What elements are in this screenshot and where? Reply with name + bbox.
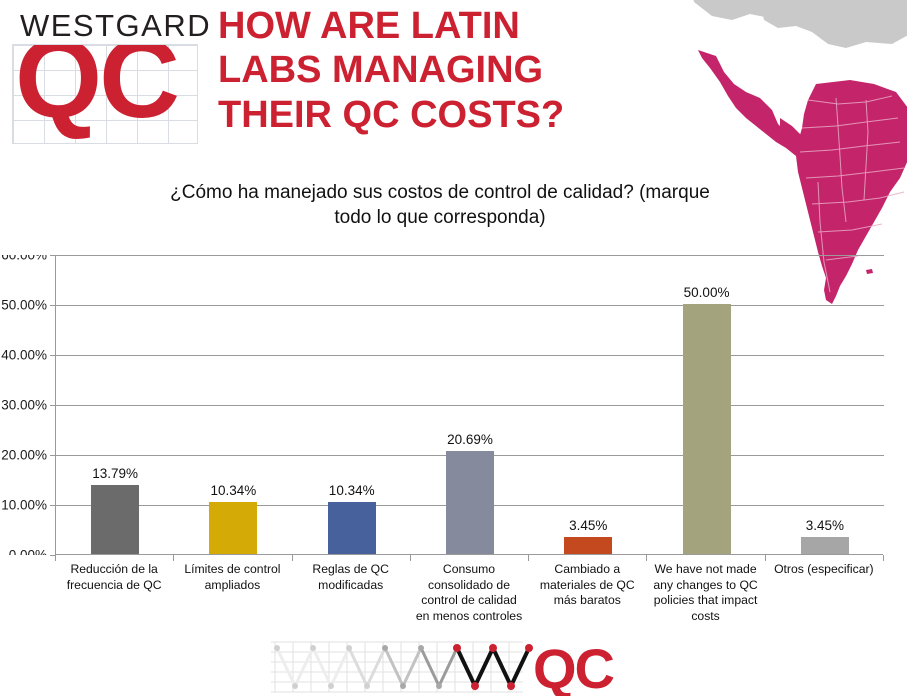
westgard-qc-footer-logo: QC (271, 638, 671, 696)
survey-bar-chart: ¿Cómo ha manejado sus costos de control … (0, 168, 907, 638)
y-axis-tick (50, 255, 56, 256)
x-axis-tick (883, 555, 884, 561)
headline-line-2: LABS MANAGING (218, 48, 658, 92)
bar-value-label: 3.45% (806, 518, 844, 533)
x-axis-category-line: Reducción de la (70, 562, 157, 576)
bar-value-label: 20.69% (447, 432, 493, 447)
y-axis-tick-label: 50.00% (1, 298, 47, 313)
headline-line-1: HOW ARE LATIN (218, 4, 658, 48)
bar-2[interactable] (209, 502, 257, 554)
x-axis-category-line: más baratos (554, 593, 621, 607)
page-title: HOW ARE LATIN LABS MANAGING THEIR QC COS… (218, 4, 658, 137)
x-axis-category-label: Reducción de lafrecuencia de QC (50, 562, 178, 593)
x-axis-category-line: control de calidad (421, 593, 517, 607)
x-axis-tick (410, 555, 411, 561)
gridline (56, 405, 884, 406)
gridline (56, 355, 884, 356)
y-axis-tick-label: 40.00% (1, 348, 47, 363)
bar-1[interactable] (91, 485, 139, 554)
bar-value-label: 50.00% (684, 285, 730, 300)
bar-value-label: 13.79% (92, 466, 138, 481)
x-axis-category-line: Cambiado a (554, 562, 620, 576)
bar-5[interactable] (564, 537, 612, 554)
x-axis-category-line: materiales de QC (540, 578, 635, 592)
bar-value-label: 10.34% (211, 483, 257, 498)
y-axis-tick (50, 505, 56, 506)
gridline (56, 255, 884, 256)
chart-title-line-2: todo lo que corresponda) (334, 207, 545, 228)
x-axis-tick (765, 555, 766, 561)
x-axis-category-line: frecuencia de QC (67, 578, 162, 592)
x-axis-category-labels: Reducción de lafrecuencia de QCLímites d… (55, 562, 884, 642)
bar-value-label: 10.34% (329, 483, 375, 498)
x-axis-tick (173, 555, 174, 561)
westgard-qc-letters: QC (15, 44, 177, 135)
bar-3[interactable] (328, 502, 376, 554)
x-axis-category-line: consolidado de (428, 578, 510, 592)
x-axis-category-line: any changes to QC (653, 578, 757, 592)
x-axis-category-label: Consumoconsolidado decontrol de calidade… (405, 562, 533, 624)
y-axis-tick (50, 455, 56, 456)
y-axis-tick-label: 60.00% (1, 255, 47, 263)
bar-4[interactable] (446, 451, 494, 554)
x-axis-category-line: policies that impact (654, 593, 758, 607)
x-axis-category-label: Cambiado amateriales de QCmás baratos (523, 562, 651, 609)
chart-title-line-1: ¿Cómo ha manejado sus costos de control … (170, 182, 710, 203)
x-axis-category-line: modificadas (318, 578, 383, 592)
y-axis-labels: 0.00%10.00%20.00%30.00%40.00%50.00%60.00… (0, 255, 55, 555)
y-axis-tick (50, 405, 56, 406)
westgard-wordmark: WESTGARD (20, 8, 211, 44)
x-axis-tick (528, 555, 529, 561)
westgard-qc-grid-mark: QC (12, 44, 198, 144)
x-axis-category-line: en menos controles (416, 609, 522, 623)
footer-logo-svg: QC (271, 638, 671, 696)
gridline (56, 305, 884, 306)
bar-6[interactable] (683, 304, 731, 554)
header-band: WESTGARD QC HOW ARE LATIN LABS MANAGING … (0, 0, 907, 160)
slide-canvas: WESTGARD QC HOW ARE LATIN LABS MANAGING … (0, 0, 907, 700)
plot-area: 13.79%10.34%10.34%20.69%3.45%50.00%3.45% (55, 255, 883, 555)
x-axis-category-label: We have not madeany changes to QCpolicie… (641, 562, 769, 624)
north-america-shape-2 (758, 0, 907, 48)
y-axis-tick-label: 20.00% (1, 448, 47, 463)
x-axis-category-line: Otros (especificar) (774, 562, 874, 576)
chart-title: ¿Cómo ha manejado sus costos de control … (60, 180, 820, 230)
x-axis-tick (646, 555, 647, 561)
x-axis-category-label: Límites de controlampliados (168, 562, 296, 593)
x-axis-category-line: costs (691, 609, 719, 623)
y-axis-tick (50, 305, 56, 306)
x-axis-category-label: Otros (especificar) (760, 562, 888, 578)
x-axis-category-line: Reglas de QC (312, 562, 389, 576)
x-axis-category-line: ampliados (205, 578, 261, 592)
x-axis-category-line: Consumo (443, 562, 495, 576)
x-axis-ticks (55, 555, 884, 561)
x-axis-tick (292, 555, 293, 561)
footer-qc-letters: QC (533, 638, 614, 696)
y-axis-tick-label: 0.00% (9, 548, 47, 556)
y-axis-tick-label: 10.00% (1, 498, 47, 513)
headline-line-3: THEIR QC COSTS? (218, 93, 658, 137)
x-axis-category-line: Límites de control (184, 562, 280, 576)
y-axis-tick (50, 355, 56, 356)
x-axis-tick (55, 555, 56, 561)
bar-value-label: 3.45% (569, 518, 607, 533)
x-axis-category-line: We have not made (655, 562, 757, 576)
bar-7[interactable] (801, 537, 849, 554)
westgard-qc-logo: WESTGARD QC (12, 8, 212, 148)
x-axis-category-label: Reglas de QCmodificadas (287, 562, 415, 593)
y-axis-tick-label: 30.00% (1, 398, 47, 413)
